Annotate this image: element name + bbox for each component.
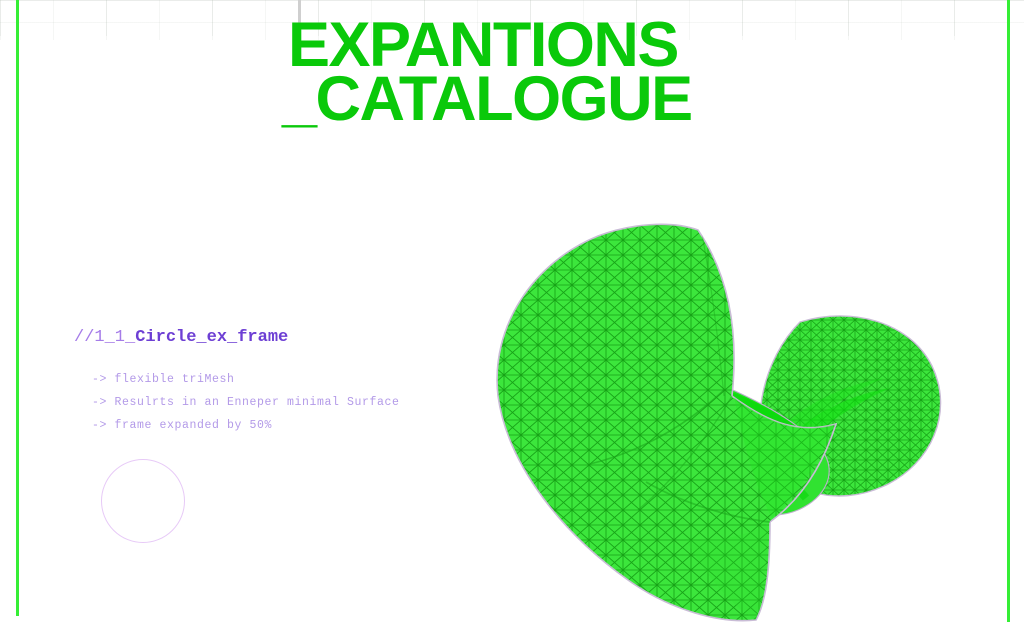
spec-heading-prefix: //1_1_	[74, 328, 135, 347]
spec-list-item: -> Resulrts in an Enneper minimal Surfac…	[92, 396, 400, 409]
right-frame-rule	[1007, 0, 1010, 622]
left-frame-rule	[16, 0, 19, 616]
enneper-surface-icon	[470, 210, 970, 640]
spec-heading-key: Circle_ex_frame	[135, 328, 288, 347]
page-title: EXPANTIONS _CATALOGUE	[288, 18, 692, 126]
spec-heading: //1_1_Circle_ex_frame	[74, 328, 288, 347]
page-title-line-2: _CATALOGUE	[282, 72, 692, 126]
catalogue-page: EXPANTIONS _CATALOGUE //1_1_Circle_ex_fr…	[0, 0, 1024, 640]
spec-list-item: -> flexible triMesh	[92, 373, 400, 386]
spec-list: -> flexible triMesh -> Resulrts in an En…	[92, 373, 400, 442]
circle-frame-outline	[101, 459, 185, 543]
mesh-viewport[interactable]	[470, 210, 970, 640]
spec-list-item: -> frame expanded by 50%	[92, 419, 400, 432]
